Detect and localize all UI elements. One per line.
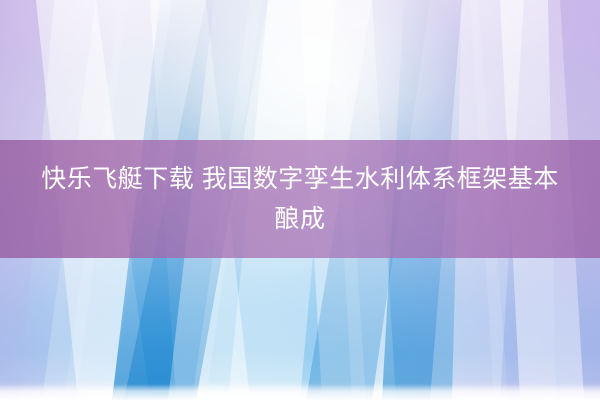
caption-line-1: 快乐飞艇下载 我国数字孪生水利体系框架基本 (41, 159, 558, 199)
caption-line-2: 酿成 (274, 199, 325, 239)
caption-overlay-band: 快乐飞艇下载 我国数字孪生水利体系框架基本 酿成 (0, 140, 600, 258)
banner-image: 快乐飞艇下载 我国数字孪生水利体系框架基本 酿成 (0, 0, 600, 400)
